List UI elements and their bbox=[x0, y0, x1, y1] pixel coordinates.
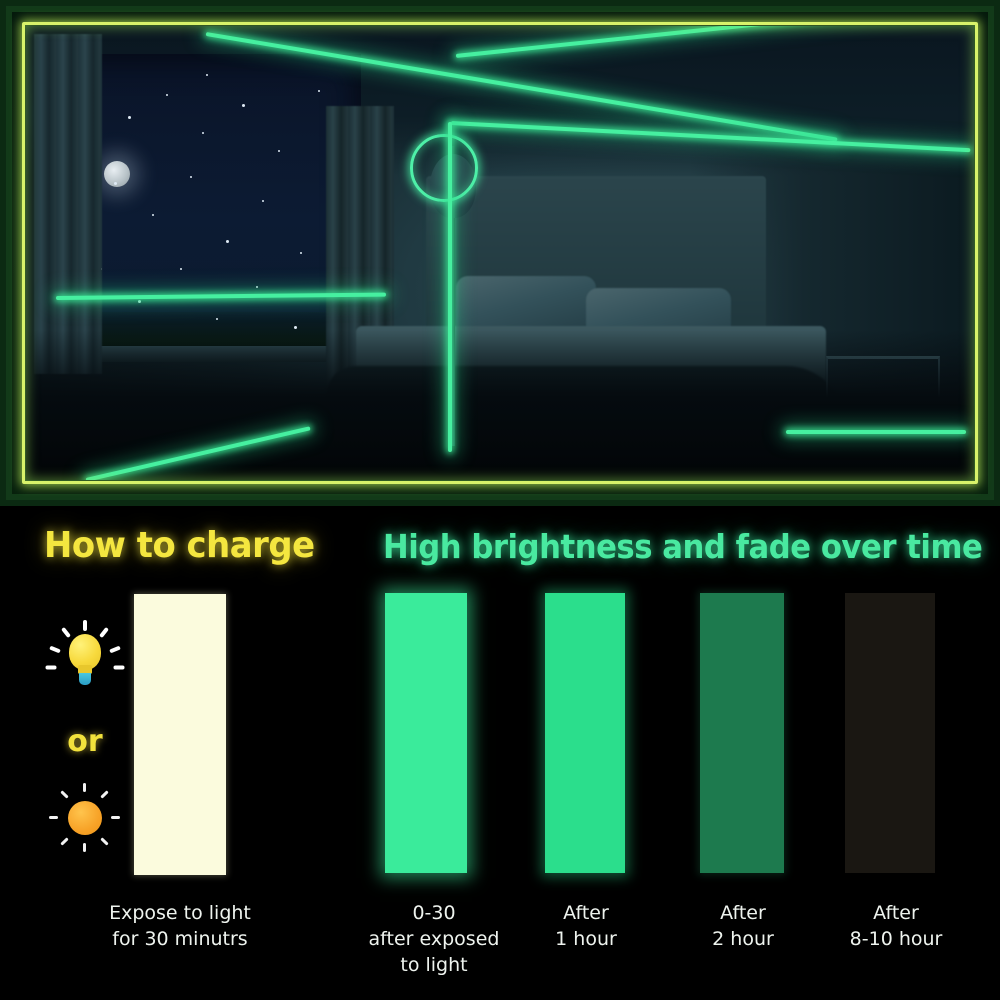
brightness-bar-3 bbox=[700, 593, 784, 873]
brightness-bar-2 bbox=[545, 593, 625, 873]
sun-icon bbox=[47, 783, 123, 857]
brightness-bar-1 bbox=[385, 593, 467, 873]
brightness-caption-2: After 1 hour bbox=[512, 900, 660, 952]
infographic-page: How to charge High brightness and fade o… bbox=[0, 0, 1000, 1000]
brightness-heading: High brightness and fade over time bbox=[383, 527, 982, 566]
product-photo-panel bbox=[0, 0, 1000, 506]
caption-line: After bbox=[668, 900, 818, 926]
charge-caption-line1: Expose to light bbox=[80, 900, 280, 926]
caption-line: 1 hour bbox=[512, 926, 660, 952]
brightness-caption-3: After 2 hour bbox=[668, 900, 818, 952]
caption-line: After bbox=[818, 900, 974, 926]
charge-icon-column: or bbox=[47, 620, 123, 857]
charge-caption: Expose to light for 30 minutrs bbox=[80, 900, 280, 952]
cream-swatch bbox=[134, 594, 226, 875]
caption-line: 2 hour bbox=[668, 926, 818, 952]
photo-glow-border bbox=[22, 22, 978, 484]
light-bulb-icon bbox=[47, 620, 123, 698]
or-label: or bbox=[47, 724, 123, 759]
caption-line: After bbox=[512, 900, 660, 926]
caption-line: 0-30 bbox=[355, 900, 513, 926]
charge-heading: How to charge bbox=[44, 525, 315, 566]
caption-line: 8-10 hour bbox=[818, 926, 974, 952]
caption-line: to light bbox=[355, 952, 513, 978]
brightness-bar-4 bbox=[845, 593, 935, 873]
brightness-caption-4: After 8-10 hour bbox=[818, 900, 974, 952]
brightness-caption-1: 0-30 after exposed to light bbox=[355, 900, 513, 978]
caption-line: after exposed bbox=[355, 926, 513, 952]
charge-caption-line2: for 30 minutrs bbox=[80, 926, 280, 952]
